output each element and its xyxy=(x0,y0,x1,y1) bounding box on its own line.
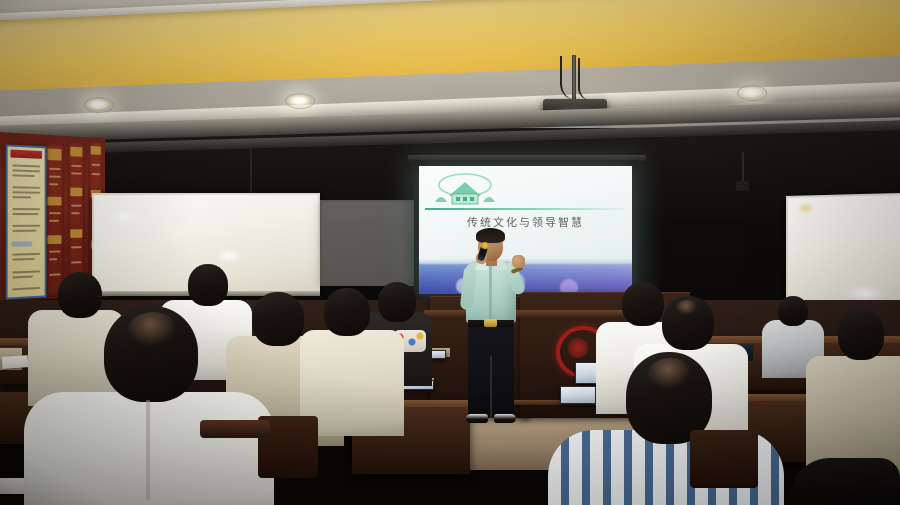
papers-left xyxy=(2,355,29,369)
attendee-a5-head xyxy=(324,288,370,336)
attendee-a8-scalp-highlight xyxy=(676,300,698,316)
wall-speaker-icon xyxy=(736,181,749,191)
presenter-hair xyxy=(476,228,505,243)
downlight-2 xyxy=(286,94,312,107)
slide-divider xyxy=(425,208,625,210)
attendee-a2-shirt-placket xyxy=(146,400,150,500)
downlight-3 xyxy=(738,86,764,99)
projection-screen: 传统文化与领导智慧 xyxy=(419,166,632,294)
chair-armrest-left xyxy=(200,420,270,438)
conference-room-photo: 传统文化与领导智慧 xyxy=(0,0,900,505)
chair-back-right xyxy=(690,430,758,488)
attendee-silhouette-bottom-right xyxy=(790,458,900,505)
attendee-a1-glasses-icon xyxy=(96,296,110,300)
attendee-a6-head xyxy=(378,282,416,322)
attendee-a7-glasses-icon xyxy=(614,306,628,310)
poster-header-band xyxy=(10,150,41,159)
presenter-trouser-seam xyxy=(490,356,492,418)
poster-red-banner-1 xyxy=(45,142,65,297)
downlight-1 xyxy=(85,98,111,111)
projector-cable-2 xyxy=(578,58,590,100)
attendee-a11-head xyxy=(778,296,808,326)
presenter-belt-buckle xyxy=(484,319,497,327)
attendee-a4-head xyxy=(252,292,304,346)
slide-title: 传统文化与领导智慧 xyxy=(419,214,632,230)
slide-footer-artwork xyxy=(419,264,632,294)
poster-cream-notice xyxy=(6,144,47,299)
attendee-a1-head xyxy=(58,272,102,318)
attendee-a2-scalp-highlight xyxy=(128,312,178,348)
presenter-fist-right xyxy=(512,255,525,268)
slide-logo-icon xyxy=(431,172,501,206)
presenter-shirt-placket xyxy=(489,263,492,319)
whiteboard-right xyxy=(786,193,900,314)
desk-monitor-3 xyxy=(560,386,596,404)
attendee-a10-glasses-icon xyxy=(830,334,846,338)
red-emblem-center xyxy=(568,338,588,358)
projector-cable-1 xyxy=(560,56,576,100)
attendee-a3-head xyxy=(188,264,228,306)
attendee-a9-scalp-highlight xyxy=(648,358,692,390)
hanging-wire xyxy=(742,152,744,182)
presenter-shoe-right xyxy=(494,414,516,423)
microphone-head-icon xyxy=(481,242,489,249)
attendee-a7-head xyxy=(622,282,664,326)
presenter-shoe-left xyxy=(466,414,488,423)
